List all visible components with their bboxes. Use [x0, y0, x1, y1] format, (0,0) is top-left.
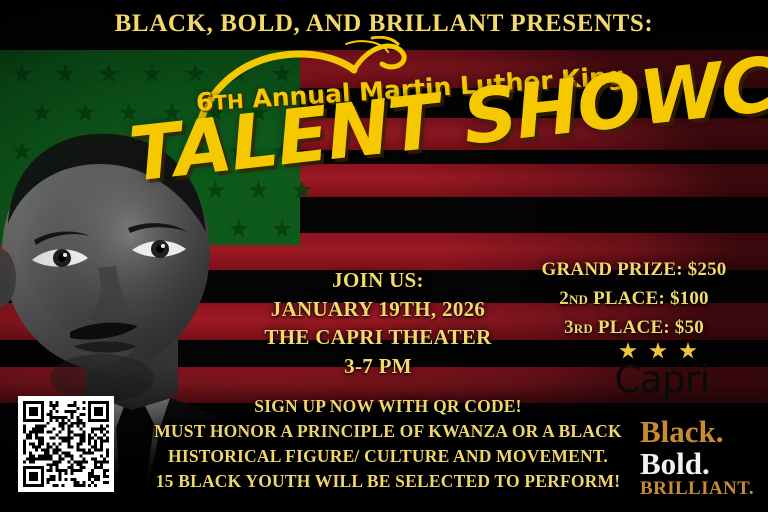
star-icon	[142, 64, 162, 84]
star-icon	[75, 103, 95, 123]
presents-headline: BLACK, BOLD, AND BRILLANT PRESENTS:	[0, 10, 768, 38]
signup-line-1: SIGN UP NOW WITH QR CODE!	[128, 394, 648, 419]
star-icon	[12, 64, 32, 84]
prize-second: 2ND PLACE: $100	[505, 285, 763, 314]
prize-list: GRAND PRIZE: $250 2ND PLACE: $100 3RD PL…	[505, 256, 763, 343]
star-icon	[32, 103, 52, 123]
signup-line-4: 15 BLACK YOUTH WILL BE SELECTED TO PERFO…	[128, 469, 648, 494]
event-poster: BLACK, BOLD, AND BRILLANT PRESENTS: 6TH …	[0, 0, 768, 512]
details-venue: THE CAPRI THEATER	[228, 323, 528, 352]
event-details: JOIN US: JANUARY 19TH, 2026 THE CAPRI TH…	[228, 266, 528, 380]
star-icon	[55, 64, 75, 84]
signup-instructions: SIGN UP NOW WITH QR CODE! MUST HONOR A P…	[128, 394, 648, 493]
logo-line-bold: Bold.	[640, 448, 764, 480]
logo-line-black: Black.	[640, 416, 764, 448]
star-icon	[99, 64, 119, 84]
prize-third: 3RD PLACE: $50	[505, 314, 763, 343]
qr-code[interactable]	[18, 396, 114, 492]
prize-grand: GRAND PRIZE: $250	[505, 256, 763, 285]
signup-line-2: MUST HONOR A PRINCIPLE OF KWANZA OR A BL…	[128, 419, 648, 444]
details-date: JANUARY 19TH, 2026	[228, 295, 528, 324]
logo-line-brilliant: BRILLIANT.	[640, 479, 764, 498]
qr-code-icon	[23, 401, 109, 487]
details-join-us: JOIN US:	[228, 266, 528, 295]
black-bold-brilliant-logo: Black. Bold. BRILLIANT.	[640, 416, 764, 499]
signup-line-3: HISTORICAL FIGURE/ CULTURE AND MOVEMENT.	[128, 444, 648, 469]
details-time: 3-7 PM	[228, 352, 528, 381]
